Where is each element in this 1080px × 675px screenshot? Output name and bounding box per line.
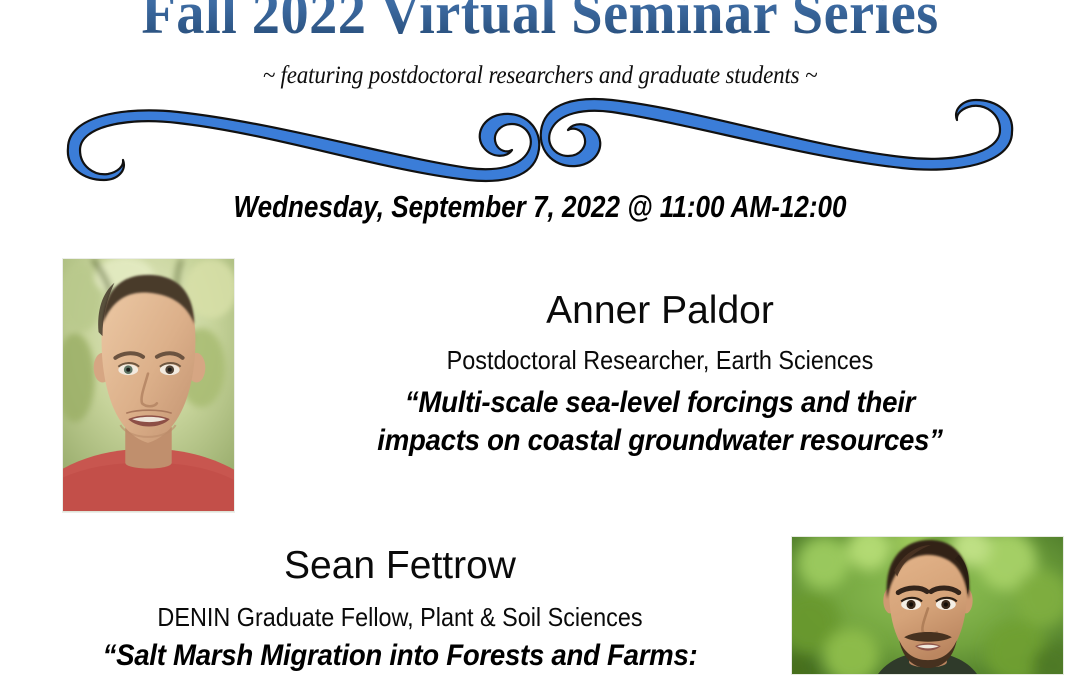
page-title: Fall 2022 Virtual Seminar Series [32, 0, 1047, 43]
event-datetime: Wednesday, September 7, 2022 @ 11:00 AM-… [86, 190, 993, 224]
speaker-photo-sean-fettrow [791, 536, 1064, 675]
decorative-flourish-divider-icon [28, 96, 1052, 184]
speaker-talk-title-sean-fettrow: “Salt Marsh Migration into Forests and F… [41, 637, 759, 675]
seminar-series-poster: Fall 2022 Virtual Seminar Series ~ featu… [0, 0, 1080, 675]
speaker-name-sean-fettrow: Sean Fettrow [30, 545, 770, 587]
speaker-photo-anner-paldor [62, 258, 235, 513]
talk-title-line: “Salt Marsh Migration into Forests and F… [41, 637, 759, 675]
speaker-affiliation-anner-paldor: Postdoctoral Researcher, Earth Sciences [363, 346, 957, 375]
talk-title-line: impacts on coastal groundwater resources… [312, 422, 1008, 460]
talk-title-line: “Multi-scale sea-level forcings and thei… [312, 384, 1008, 422]
page-subtitle: ~ featuring postdoctoral researchers and… [43, 62, 1037, 90]
speaker-affiliation-sean-fettrow: DENIN Graduate Fellow, Plant & Soil Scie… [67, 603, 733, 632]
speaker-talk-title-anner-paldor: “Multi-scale sea-level forcings and thei… [312, 384, 1008, 461]
speaker-name-anner-paldor: Anner Paldor [330, 290, 990, 332]
